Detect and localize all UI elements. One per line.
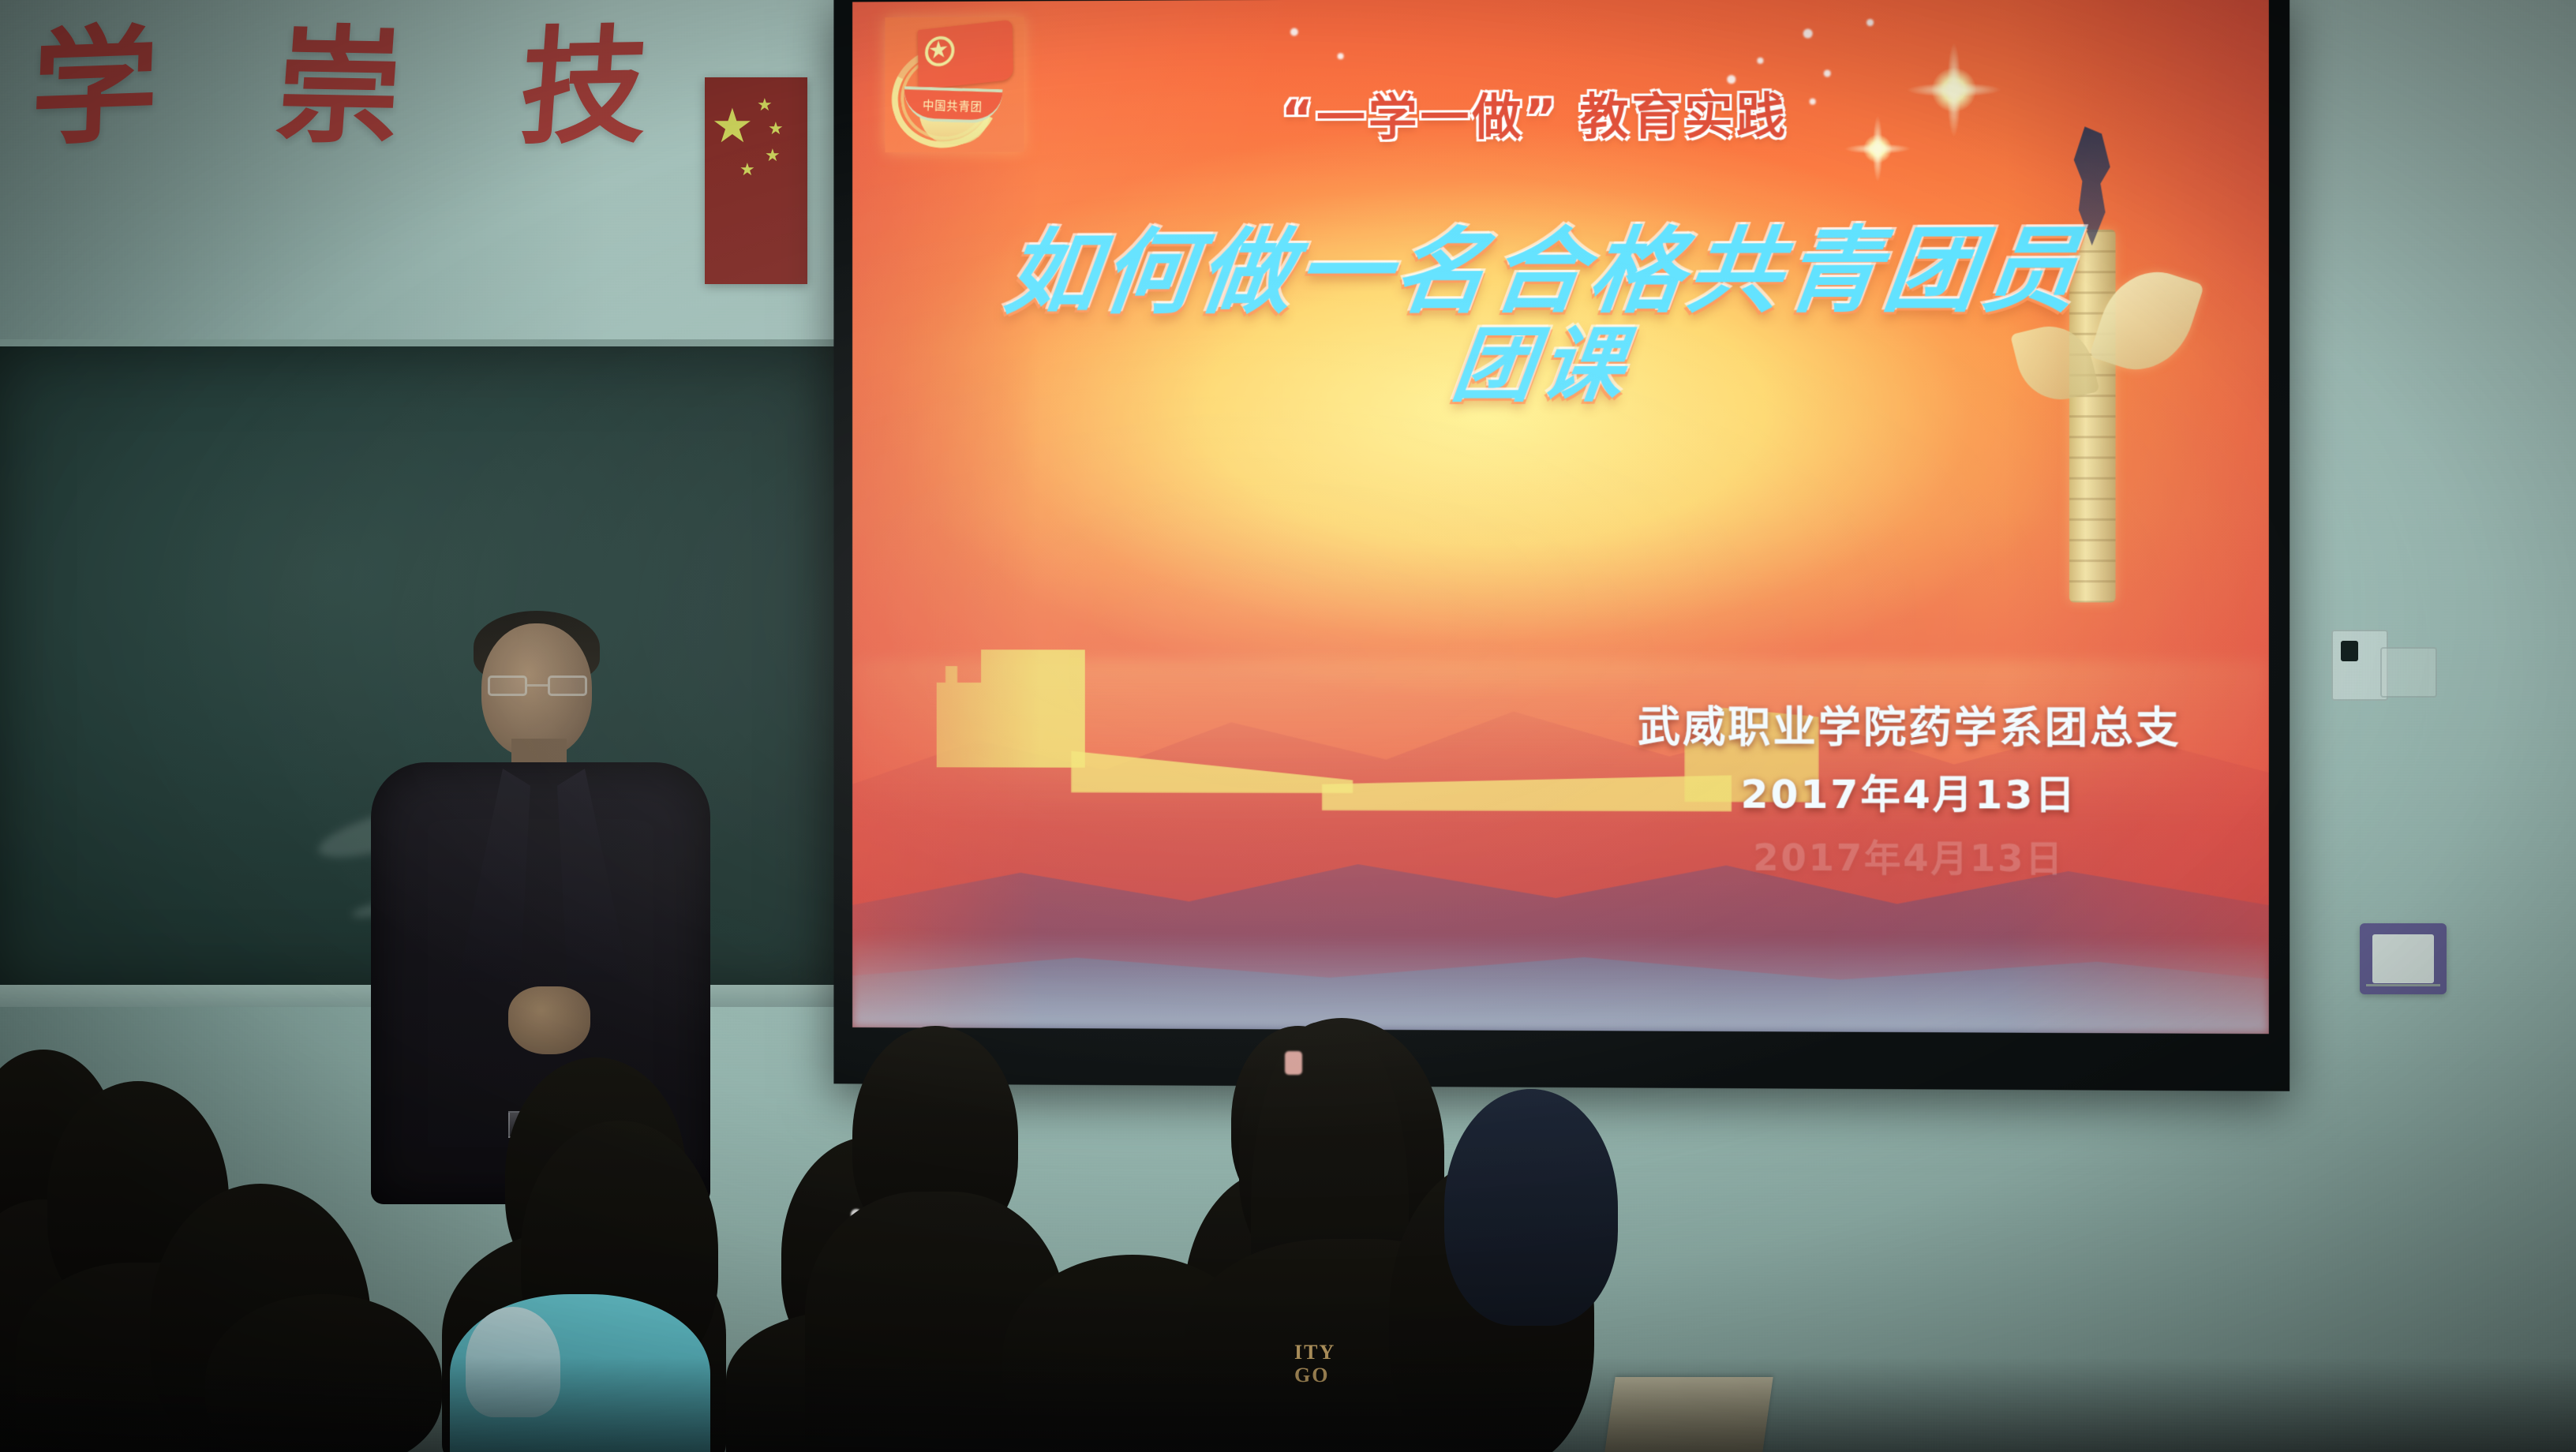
photo-vignette — [0, 0, 2576, 1452]
classroom-photo: 学 崇 技 ★ ★ ★ ★ ★ — [0, 0, 2576, 1452]
